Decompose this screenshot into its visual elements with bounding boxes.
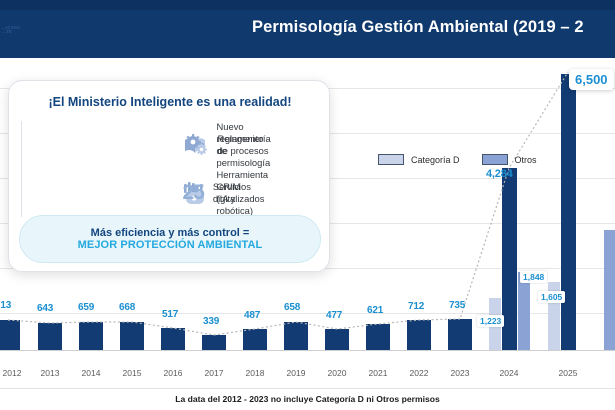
- value-label-2024-categoria-d: 1,223: [477, 315, 504, 327]
- bar-2016[interactable]: [161, 328, 185, 350]
- value-label-2012: 713: [0, 300, 11, 311]
- value-label-2023: 735: [449, 300, 465, 311]
- logo-line-2: ...TE: [2, 30, 48, 34]
- gears-icon: [183, 132, 209, 158]
- x-label-2018: 2018: [238, 368, 272, 378]
- value-label-2019: 658: [284, 302, 300, 313]
- legend-item-categoria-d[interactable]: Categoría D: [378, 154, 460, 165]
- legend-swatch-icon: [378, 154, 404, 165]
- organization-logo: ...ICANA ...TE: [2, 26, 48, 48]
- feature-divider: [21, 121, 22, 217]
- header-top-bar: [0, 0, 615, 10]
- x-label-2020: 2020: [320, 368, 354, 378]
- x-label-2025: 2025: [551, 368, 585, 378]
- value-label-2016: 517: [162, 309, 178, 320]
- bar-2015[interactable]: [120, 322, 144, 350]
- bar-2020[interactable]: [325, 329, 349, 350]
- legend-label: Categoría D: [411, 155, 460, 165]
- x-label-2024: 2024: [492, 368, 526, 378]
- bar-2025-otros[interactable]: [604, 230, 615, 350]
- legend-item-otros[interactable]: Otros: [482, 154, 537, 165]
- value-label-2015: 668: [119, 302, 135, 313]
- feature-line-2: de procesos: [218, 145, 269, 156]
- bar-2013[interactable]: [38, 323, 62, 350]
- footnote-container: La data del 2012 - 2023 no incluye Categ…: [0, 388, 615, 410]
- feature-text: Reingeniería de procesos: [218, 133, 271, 157]
- feature-text: Servicios digitalizados: [213, 181, 265, 205]
- value-label-2025-permisos: 6,500: [569, 69, 614, 90]
- cta-line-2: MEJOR PROTECCIÓN AMBIENTAL: [78, 239, 263, 251]
- x-label-2013: 2013: [33, 368, 67, 378]
- feature-line-1: Servicios: [213, 181, 251, 192]
- value-label-2024-otros: 1,848: [520, 271, 547, 283]
- x-label-2012: 2012: [0, 368, 32, 378]
- value-label-2021: 621: [367, 305, 383, 316]
- feature-line-2: digitalizados: [213, 193, 265, 204]
- value-label-2022: 712: [408, 301, 424, 312]
- info-card-title: ¡El Ministerio Inteligente es una realid…: [9, 95, 330, 109]
- value-label-2020: 477: [326, 310, 342, 321]
- x-label-2014: 2014: [74, 368, 108, 378]
- legend-swatch-icon: [482, 154, 508, 165]
- cta-line-1: Más eficiencia y más control =: [91, 227, 250, 239]
- value-label-2017: 339: [203, 316, 219, 327]
- info-card-cta: Más eficiencia y más control = MEJOR PRO…: [19, 215, 321, 263]
- x-label-2017: 2017: [197, 368, 231, 378]
- value-label-2013: 643: [37, 303, 53, 314]
- x-label-2021: 2021: [361, 368, 395, 378]
- feature-reingenieria: Reingeniería de procesos: [171, 121, 320, 169]
- bar-2025-permisos[interactable]: [561, 74, 576, 350]
- bar-2024-permisos[interactable]: [502, 168, 517, 350]
- bar-2017[interactable]: [202, 335, 226, 350]
- bar-2024-otros[interactable]: [518, 272, 530, 350]
- value-label-2014: 659: [78, 302, 94, 313]
- bar-2018[interactable]: [243, 329, 267, 350]
- page-title: Permisología Gestión Ambiental (2019 – 2: [252, 18, 584, 37]
- bar-2012[interactable]: [0, 320, 20, 350]
- x-label-2022: 2022: [402, 368, 436, 378]
- x-label-2015: 2015: [115, 368, 149, 378]
- x-label-2016: 2016: [156, 368, 190, 378]
- feature-number: 25: [183, 181, 204, 205]
- value-label-2025-categoria-d: 1,605: [538, 291, 565, 303]
- x-label-2019: 2019: [279, 368, 313, 378]
- bar-2019[interactable]: [284, 322, 308, 350]
- info-card-features: Nuevo reglamento de permisología: [21, 121, 319, 211]
- value-label-2018: 487: [244, 310, 260, 321]
- bar-2022[interactable]: [407, 320, 431, 350]
- feature-servicios-digitalizados: 25 Servicios digitalizados: [171, 169, 320, 217]
- page-header: ...ICANA ...TE Permisología Gestión Ambi…: [0, 0, 615, 58]
- bar-2021[interactable]: [366, 324, 390, 350]
- legend-label: Otros: [515, 155, 537, 165]
- info-card: ¡El Ministerio Inteligente es una realid…: [8, 80, 330, 272]
- footnote-text: La data del 2012 - 2023 no incluye Categ…: [0, 394, 615, 404]
- bar-2014[interactable]: [79, 322, 103, 350]
- x-axis-labels: 2012 2013 2014 2015 2016 2017 2018 2019 …: [0, 368, 615, 388]
- bar-2023[interactable]: [448, 319, 472, 350]
- value-label-2024-permisos: 4,284: [486, 168, 513, 180]
- feature-line-1: Reingeniería: [218, 133, 271, 144]
- x-label-2023: 2023: [443, 368, 477, 378]
- chart-legend: Categoría D Otros: [378, 154, 537, 165]
